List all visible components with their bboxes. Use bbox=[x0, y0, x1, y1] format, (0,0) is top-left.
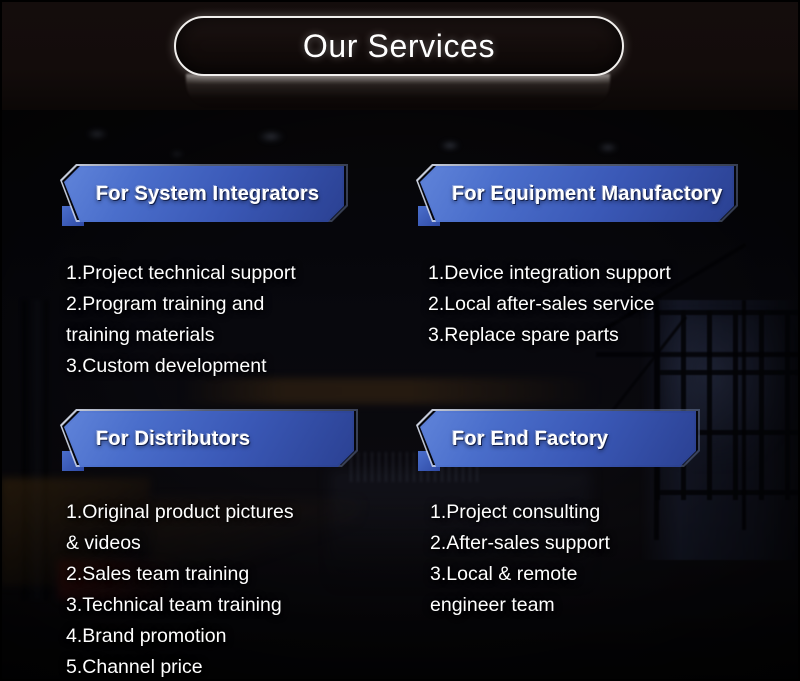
list-item: training materials bbox=[66, 320, 296, 351]
list-item: 3.Custom development bbox=[66, 351, 296, 382]
list-item: 2.Local after-sales service bbox=[428, 289, 671, 320]
banner-label-distributors: For Distributors bbox=[64, 428, 250, 451]
list-item: 1.Project consulting bbox=[430, 497, 610, 528]
list-distributors: 1.Original product pictures & videos 2.S… bbox=[66, 497, 294, 681]
banner-label-system-integrators: For System Integrators bbox=[64, 183, 319, 206]
list-item: 2.Sales team training bbox=[66, 559, 294, 590]
list-item: 1.Project technical support bbox=[66, 258, 296, 289]
list-item: 2.Program training and bbox=[66, 289, 296, 320]
list-system-integrators: 1.Project technical support 2.Program tr… bbox=[66, 258, 296, 382]
banner-equipment-manufactory[interactable]: For Equipment Manufactory bbox=[420, 166, 734, 222]
banner-distributors[interactable]: For Distributors bbox=[64, 411, 354, 467]
list-item: 1.Original product pictures bbox=[66, 497, 294, 528]
list-item: 4.Brand promotion bbox=[66, 621, 294, 652]
page-title-pill: Our Services bbox=[174, 16, 624, 76]
banner-label-equipment-manufactory: For Equipment Manufactory bbox=[420, 183, 723, 206]
banner-system-integrators[interactable]: For System Integrators bbox=[64, 166, 344, 222]
list-item: & videos bbox=[66, 528, 294, 559]
list-item: 5.Channel price bbox=[66, 652, 294, 681]
list-item: engineer team bbox=[430, 590, 610, 621]
banner-label-end-factory: For End Factory bbox=[420, 428, 608, 451]
title-reflection bbox=[186, 74, 610, 108]
list-item: 3.Technical team training bbox=[66, 590, 294, 621]
list-item: 2.After-sales support bbox=[430, 528, 610, 559]
services-poster: Our Services For System Integrators 1.Pr… bbox=[0, 0, 800, 681]
list-item: 1.Device integration support bbox=[428, 258, 671, 289]
list-end-factory: 1.Project consulting 2.After-sales suppo… bbox=[430, 497, 610, 621]
page-title: Our Services bbox=[303, 28, 495, 65]
list-equipment-manufactory: 1.Device integration support 2.Local aft… bbox=[428, 258, 671, 351]
banner-end-factory[interactable]: For End Factory bbox=[420, 411, 696, 467]
list-item: 3.Replace spare parts bbox=[428, 320, 671, 351]
list-item: 3.Local & remote bbox=[430, 559, 610, 590]
